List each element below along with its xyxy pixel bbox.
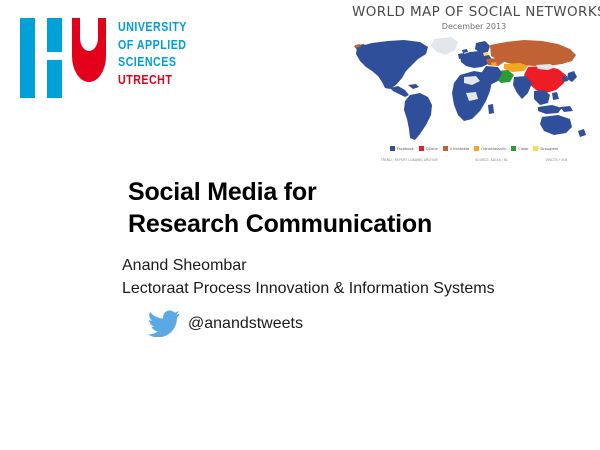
logo-line-utrecht: UTRECHT — [118, 71, 187, 89]
legend-swatch-vkontakte — [443, 146, 448, 151]
legend-item-qzone: QZone — [419, 146, 438, 151]
legend-item-cloob: Cloob — [511, 146, 528, 151]
legend-item-odnoklassniki: Odnoklassniki — [474, 146, 506, 151]
legend-label-draugiem: Draugiem — [540, 147, 558, 151]
region-british-isles — [458, 53, 465, 59]
map-subtitle: December 2013 — [352, 22, 596, 31]
hu-logo-mark — [18, 16, 106, 100]
author-affiliation: Lectoraat Process Innovation & Informati… — [122, 277, 495, 300]
hu-logo-h-right-bottom-bar — [47, 60, 62, 98]
slide-byline: Anand Sheombar Lectoraat Process Innovat… — [122, 254, 495, 300]
legend-label-odnoklassniki: Odnoklassniki — [481, 147, 506, 151]
map-title: WORLD MAP OF SOCIAL NETWORKS — [352, 4, 596, 20]
logo-line-of-applied: OF APPLIED — [118, 36, 187, 54]
twitter-bird-icon — [148, 310, 180, 337]
logo-line-university: UNIVERSITY — [118, 18, 187, 36]
twitter-handle-text: @anandstweets — [188, 315, 303, 333]
legend-label-vkontakte: V Kontakte — [450, 147, 470, 151]
hu-logo-h-left-bar — [20, 18, 35, 98]
hu-logo-h-right-top-bar — [47, 18, 62, 52]
legend-label-facebook: Facebook — [397, 147, 414, 151]
map-legend: Facebook QZone V Kontakte Odnoklassniki … — [352, 146, 596, 151]
legend-item-facebook: Facebook — [390, 146, 414, 151]
map-image — [352, 33, 596, 145]
logo-line-sciences: SCIENCES — [118, 53, 187, 71]
region-madagascar — [488, 104, 494, 114]
world-map-svg — [352, 33, 596, 145]
legend-item-draugiem: Draugiem — [533, 146, 558, 151]
legend-label-cloob: Cloob — [518, 147, 528, 151]
map-credits: TREND / REPORT LOADING ARCHIVE SOURCE: A… — [352, 158, 596, 162]
map-credit-3: VINCOS / VCB — [545, 158, 567, 162]
slide-title-line-1: Social Media for — [128, 176, 432, 208]
twitter-contact: @anandstweets — [148, 310, 303, 337]
legend-swatch-odnoklassniki — [474, 146, 479, 151]
author-name: Anand Sheombar — [122, 254, 495, 277]
region-korea — [562, 76, 568, 82]
hu-logo: UNIVERSITY OF APPLIED SCIENCES UTRECHT — [18, 16, 218, 106]
legend-item-vkontakte: V Kontakte — [443, 146, 470, 151]
slide-title-line-2: Research Communication — [128, 208, 432, 240]
legend-swatch-facebook — [390, 146, 395, 151]
presentation-slide: UNIVERSITY OF APPLIED SCIENCES UTRECHT W… — [0, 0, 600, 450]
hu-logo-u-notch — [80, 18, 98, 51]
legend-swatch-qzone — [419, 146, 424, 151]
hu-logo-wordmark: UNIVERSITY OF APPLIED SCIENCES UTRECHT — [118, 18, 202, 89]
map-credit-1: TREND / REPORT LOADING ARCHIVE — [381, 158, 438, 162]
legend-label-qzone: QZone — [426, 147, 438, 151]
legend-swatch-draugiem — [533, 146, 538, 151]
legend-swatch-cloob — [511, 146, 516, 151]
world-map-of-social-networks-figure: WORLD MAP OF SOCIAL NETWORKS December 20… — [352, 4, 596, 184]
slide-title: Social Media for Research Communication — [128, 176, 432, 240]
map-credit-2: SOURCE: ALEXA / NL — [475, 158, 508, 162]
